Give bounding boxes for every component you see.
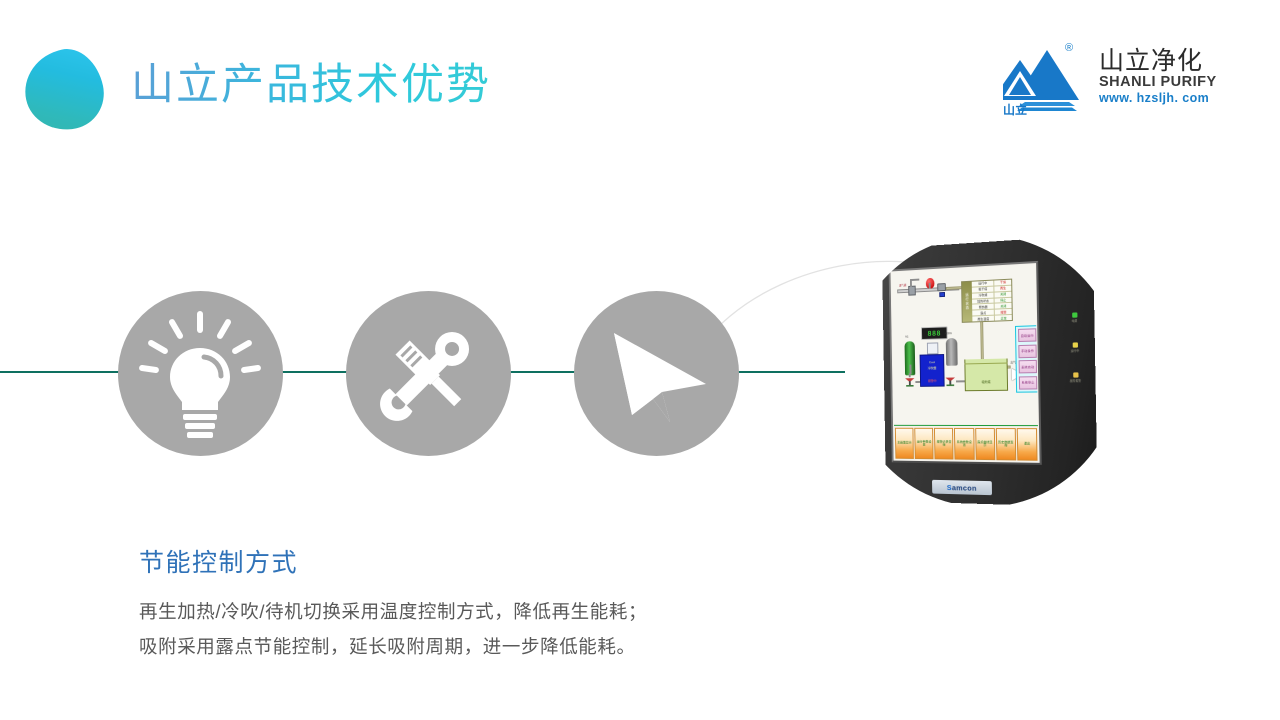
cylinder-tag-right: A2201 bbox=[945, 332, 952, 335]
hmi-bottom-button-group: 主画面显示 运行参数设 置 报警记录查 询 系统参数设 置 露点曲线显示 历史数… bbox=[894, 427, 1039, 462]
slide-canvas: 山立产品技术优势 ® 山立 山立净化 SHANLI PURIFY www. hz… bbox=[0, 0, 1280, 720]
status-key: 再生温度 bbox=[972, 316, 995, 322]
registered-mark: ® bbox=[1065, 42, 1073, 54]
adsorber-tank-label: 吸附塔 bbox=[966, 380, 1007, 385]
hmi-bottom-button[interactable]: 报警记录查 询 bbox=[934, 428, 954, 460]
hmi-bottom-button[interactable]: 主画面显示 bbox=[895, 428, 914, 459]
hmi-side-button[interactable]: 手动操作 bbox=[1018, 344, 1036, 358]
valve-handle bbox=[910, 279, 919, 281]
section-heading: 节能控制方式 bbox=[139, 543, 298, 579]
inlet-tag: 进气阀 bbox=[899, 283, 906, 287]
cooler-panel-name: 冷吹器 bbox=[928, 366, 937, 370]
logo-company-cn: 山立净化 bbox=[1099, 48, 1219, 74]
panel-brand-plate: Samcon bbox=[932, 480, 992, 495]
cooler-panel-label: Cool冷吹器 bbox=[921, 360, 944, 372]
digital-readout: 888 bbox=[921, 326, 948, 340]
cylinder-tag-left: N1 bbox=[905, 336, 908, 339]
logo-website: www. hzsljh. com bbox=[1099, 91, 1219, 106]
led-run-icon bbox=[1072, 342, 1077, 347]
decorative-blob bbox=[18, 43, 111, 137]
adsorber-tank: 吸附塔 bbox=[964, 358, 1008, 391]
led-label: 运行中 bbox=[1068, 348, 1083, 353]
logo-company-en: SHANLI PURIFY bbox=[1099, 74, 1219, 91]
wrench-screwdriver-icon bbox=[346, 291, 511, 456]
hmi-bottom-button[interactable]: 退出 bbox=[1017, 428, 1038, 461]
pump-right-icon bbox=[944, 376, 956, 387]
gray-cylinder bbox=[946, 338, 958, 366]
pipe-right-run bbox=[956, 380, 965, 382]
inlet-valve bbox=[908, 286, 916, 296]
cooler-panel-alarm: 报警中 bbox=[921, 379, 944, 383]
panel-brand-rest: amcon bbox=[952, 483, 977, 493]
hmi-bottom-button[interactable]: 历史数据查询 bbox=[996, 428, 1017, 460]
status-value: 关闭 bbox=[995, 291, 1012, 297]
cooler-panel: Cool冷吹器 报警中 bbox=[920, 354, 945, 387]
hmi-side-button-group: 自动运行 手动操作 系统启动 系统停止 bbox=[1015, 325, 1038, 393]
page-title: 山立产品技术优势 bbox=[131, 62, 491, 109]
body-line: 吸附采用露点节能控制，延长吸附周期，进一步降低能耗。 bbox=[139, 629, 759, 664]
status-table-rows: 运行中干燥 吸干塔再生 冷吹阀关闭 加热状态停止 预热器关闭 露点报警 再生温度… bbox=[972, 280, 1012, 322]
hmi-screen: 进气阀 运行状态 运行中干燥 吸干塔再生 冷吹阀关闭 bbox=[891, 264, 1038, 424]
status-key: 预热器 bbox=[972, 304, 995, 310]
logo-mark-label: 山立 bbox=[1003, 101, 1027, 118]
led-label: 故障报警 bbox=[1068, 379, 1083, 383]
status-key: 露点 bbox=[972, 310, 995, 316]
pipe-left-run bbox=[915, 381, 920, 383]
valve-stem bbox=[910, 281, 912, 287]
status-value: 再生 bbox=[995, 286, 1012, 292]
section-body: 再生加热/冷吹/待机切换采用温度控制方式，降低再生能耗； 吸附采用露点节能控制，… bbox=[139, 594, 759, 664]
logo-wordmark: 山立净化 SHANLI PURIFY www. hzsljh. com bbox=[1099, 48, 1219, 106]
panel-brand-text: Samcon bbox=[947, 483, 977, 493]
panel-led: 电源 bbox=[1067, 312, 1082, 323]
hmi-panel-photo: 进气阀 运行状态 运行中干燥 吸干塔再生 冷吹阀关闭 bbox=[848, 235, 1120, 507]
body-line: 再生加热/冷吹/待机切换采用温度控制方式，降低再生能耗； bbox=[139, 594, 759, 629]
flow-meter bbox=[937, 283, 946, 291]
cooler-panel-top: Cool bbox=[929, 360, 935, 364]
meter-display bbox=[939, 292, 945, 297]
cursor-arrow-icon bbox=[574, 291, 739, 456]
icon-circle-cursor[interactable] bbox=[574, 291, 739, 456]
hmi-side-button[interactable]: 系统启动 bbox=[1019, 360, 1037, 374]
hmi-bottom-button[interactable]: 露点曲线显示 bbox=[975, 428, 995, 460]
icon-circle-tools[interactable] bbox=[346, 291, 511, 456]
indicator-stem bbox=[929, 283, 931, 289]
hmi-panel-body: 进气阀 运行状态 运行中干燥 吸干塔再生 冷吹阀关闭 bbox=[882, 235, 1098, 507]
panel-led-group: 电源 运行中 故障报警 bbox=[1067, 312, 1083, 402]
led-label: 电源 bbox=[1067, 318, 1082, 323]
hmi-side-button[interactable]: 自动运行 bbox=[1018, 328, 1036, 342]
status-value: 正常 bbox=[995, 315, 1012, 321]
hmi-screen-bezel: 进气阀 运行状态 运行中干燥 吸干塔再生 冷吹阀关闭 bbox=[889, 261, 1042, 465]
digital-readout-value: 888 bbox=[928, 329, 941, 337]
status-table: 运行状态 运行中干燥 吸干塔再生 冷吹阀关闭 加热状态停止 预热器关闭 露点报警… bbox=[961, 279, 1013, 323]
table-row: 再生温度正常 bbox=[972, 315, 1012, 321]
pump-left-icon bbox=[904, 376, 915, 387]
hmi-side-button[interactable]: 系统停止 bbox=[1019, 376, 1037, 389]
pipe-cyl-left bbox=[910, 365, 912, 375]
panel-led: 运行中 bbox=[1067, 342, 1082, 353]
cooler-panel-window bbox=[927, 342, 939, 354]
status-value: 关闭 bbox=[995, 303, 1012, 309]
led-alarm-icon bbox=[1073, 372, 1078, 377]
lightbulb-icon bbox=[118, 291, 283, 456]
hmi-bottom-button[interactable]: 系统参数设 置 bbox=[954, 428, 974, 460]
icon-circle-lightbulb[interactable] bbox=[118, 291, 283, 456]
panel-led: 故障报警 bbox=[1068, 372, 1083, 383]
brand-logo: ® 山立 山立净化 SHANLI PURIFY www. hzsljh. com bbox=[1003, 42, 1218, 120]
led-power-icon bbox=[1072, 312, 1077, 317]
status-value: 报警 bbox=[995, 309, 1012, 315]
status-value: 停止 bbox=[995, 297, 1012, 303]
status-value: 干燥 bbox=[995, 280, 1012, 286]
hmi-bottom-button[interactable]: 运行参数设 置 bbox=[914, 428, 933, 459]
